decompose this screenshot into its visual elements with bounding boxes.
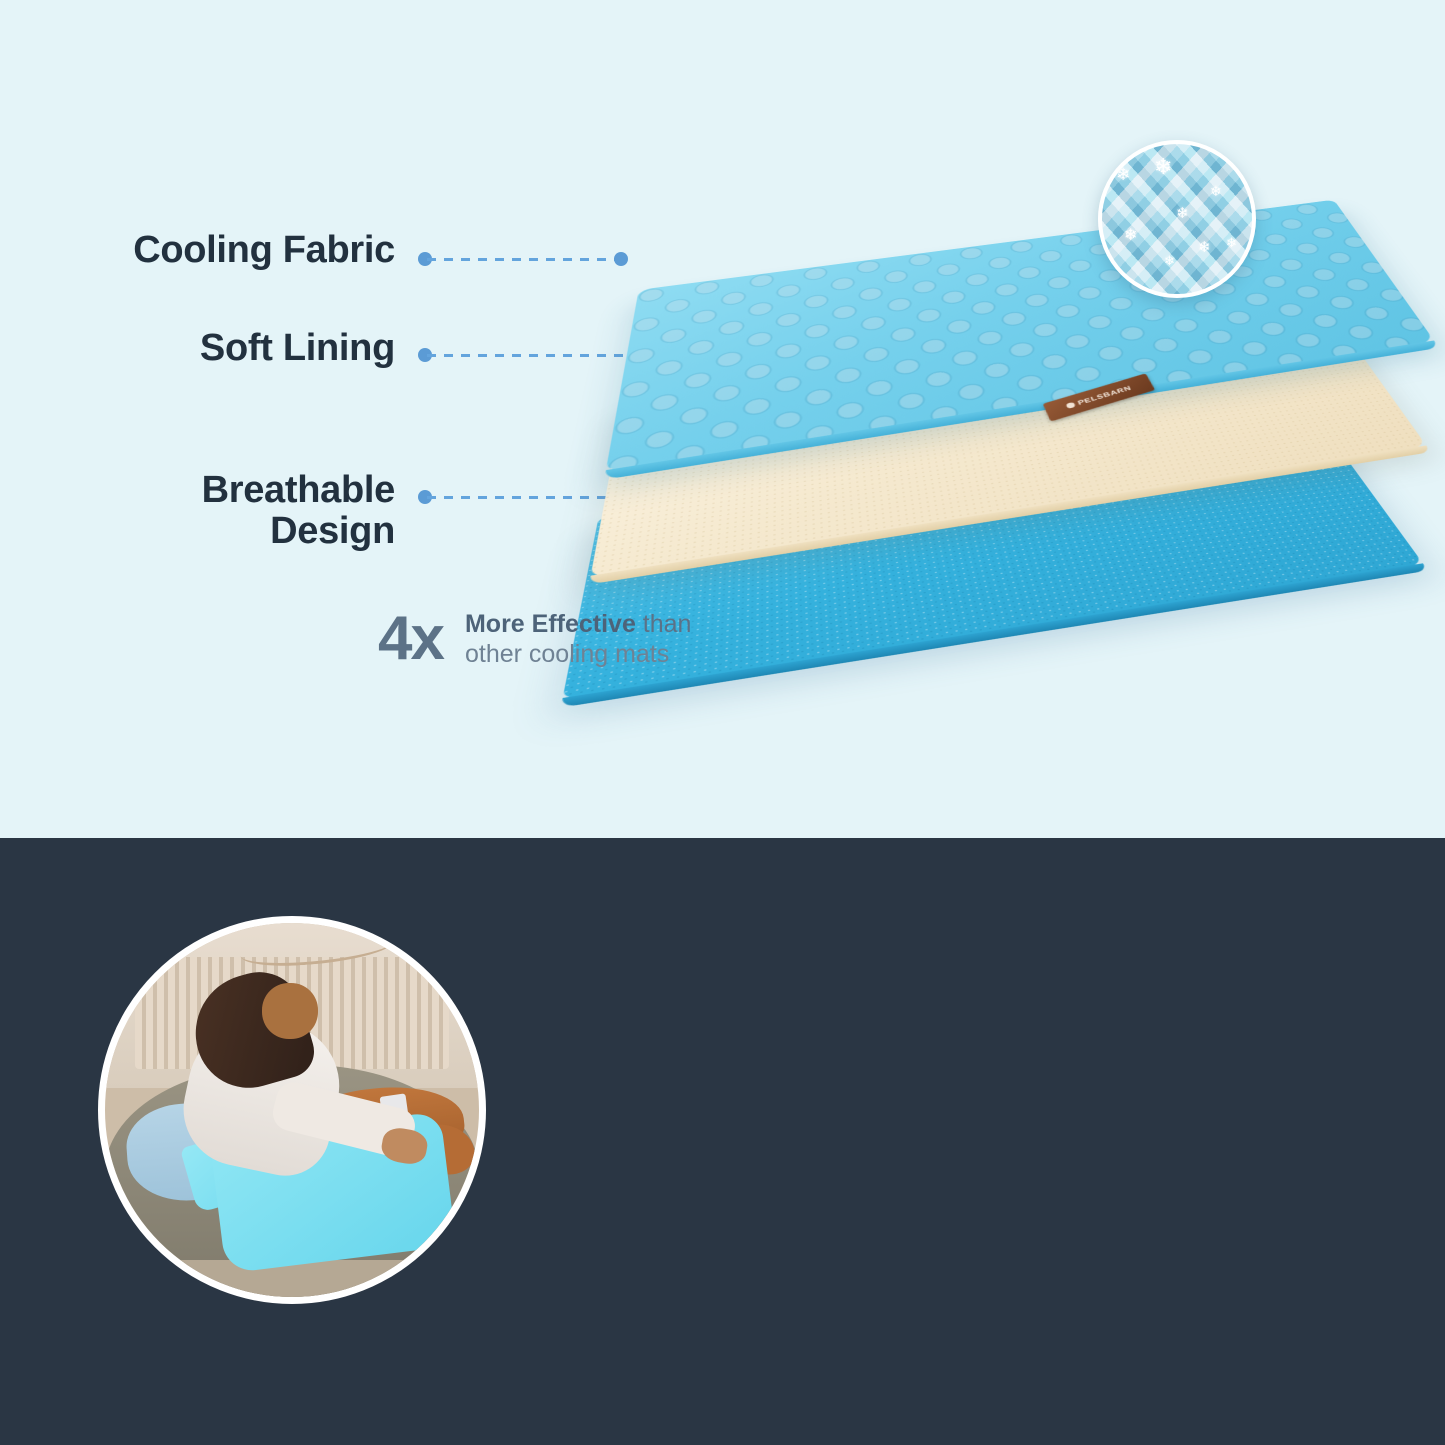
effectiveness-callout: 4x More Effective than other cooling mat…	[378, 608, 691, 670]
snowflake-icon: ❄	[1124, 228, 1137, 244]
exploded-mat-layers: PELSBARN	[565, 130, 1445, 730]
snowflake-icon: ❄	[1164, 254, 1175, 267]
photo-floor	[105, 1260, 479, 1297]
effectiveness-text: More Effective than other cooling mats	[465, 609, 692, 670]
snowflake-icon: ❄	[1116, 166, 1130, 183]
label-breathable-line2: Design	[60, 511, 395, 552]
features-section: BUILT FOR FORM & FUNCTION	[0, 838, 1445, 1445]
effectiveness-line1-bold: More Effective	[465, 610, 636, 638]
snowflake-icon: ❄	[1176, 206, 1189, 221]
label-soft-lining: Soft Lining	[60, 328, 395, 369]
effectiveness-line1: More Effective than	[465, 609, 692, 640]
lifestyle-photo	[98, 916, 486, 1304]
label-cooling-fabric: Cooling Fabric	[60, 230, 395, 271]
effectiveness-line1-rest: than	[636, 610, 692, 638]
label-breathable-design: Breathable Design	[60, 470, 395, 552]
paw-icon	[1066, 402, 1076, 409]
snowflake-icon: ❄	[1226, 236, 1237, 249]
fabric-weave-magnifier: ❄ ❄ ❄ ❄ ❄ ❄ ❄ ❄	[1098, 140, 1256, 298]
snowflake-icon: ❄	[1210, 184, 1222, 198]
snowflake-icon: ❄	[1198, 240, 1211, 255]
effectiveness-line2: other cooling mats	[465, 639, 692, 670]
infographic-page: Cooling Fabric Soft Lining Breathable De…	[0, 0, 1445, 1445]
photo-woman-head	[262, 983, 318, 1039]
layer-breakdown-section: Cooling Fabric Soft Lining Breathable De…	[0, 0, 1445, 838]
snowflake-icon: ❄	[1154, 156, 1172, 178]
label-breathable-line1: Breathable	[60, 470, 395, 511]
effectiveness-multiplier: 4x	[378, 608, 443, 670]
